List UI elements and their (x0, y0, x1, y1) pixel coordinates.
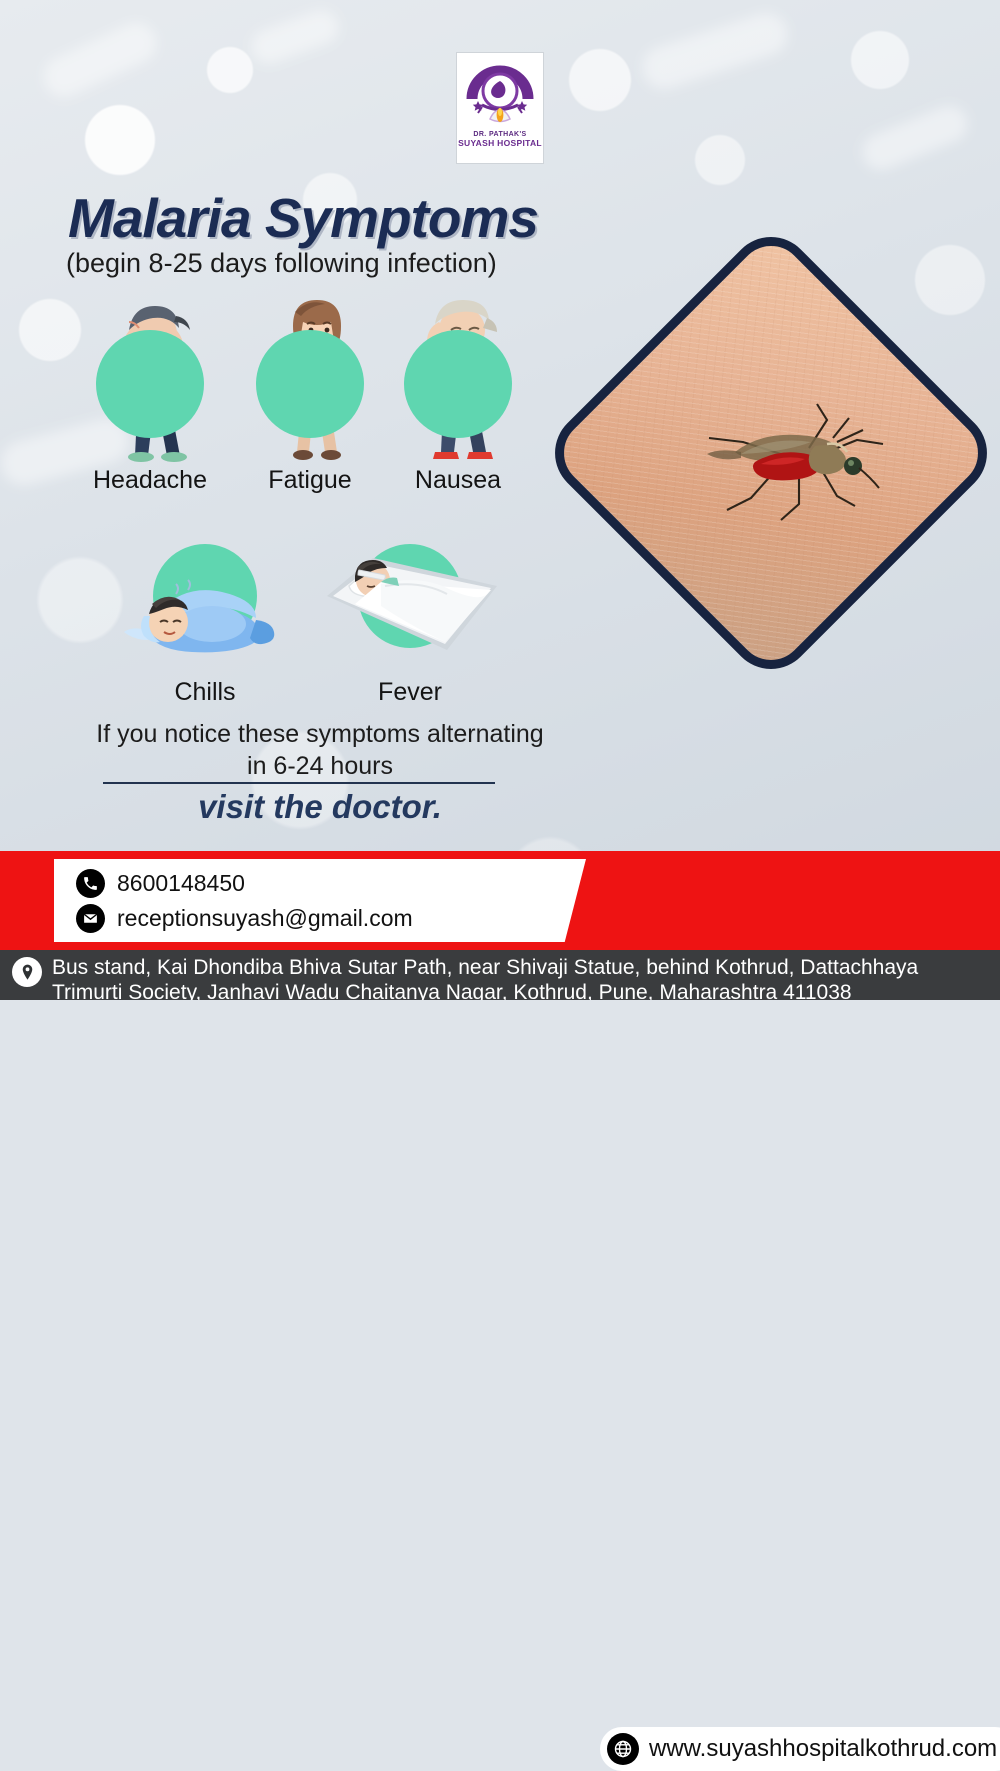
address-bar: Bus stand, Kai Dhondiba Bhiva Sutar Path… (0, 950, 1000, 1000)
hospital-emblem-icon (460, 57, 540, 133)
cta-line1: If you notice these symptoms alternating (96, 720, 543, 748)
symptom-label: Nausea (383, 466, 533, 495)
symptom-nausea: Nausea (383, 282, 533, 495)
cta-text: If you notice these symptoms alternating… (40, 718, 600, 782)
address-line1: Bus stand, Kai Dhondiba Bhiva Sutar Path… (52, 956, 918, 979)
bokeh-streak (247, 6, 343, 69)
bokeh-streak (637, 8, 793, 94)
poster-canvas: DR. PATHAK'S SUYASH HOSPITAL Malaria Sym… (0, 0, 1000, 1000)
logo-top-text: DR. PATHAK'S (463, 131, 537, 138)
person-in-bed-icon (315, 538, 505, 674)
symptom-fatigue: Fatigue (235, 282, 385, 495)
symptom-label: Fever (335, 678, 485, 707)
symptom-label: Chills (130, 678, 280, 707)
email-row[interactable]: receptionsuyash@gmail.com (76, 904, 586, 933)
envelope-icon (76, 904, 105, 933)
bokeh-streak (857, 101, 972, 176)
phone-icon (76, 869, 105, 898)
symptom-headache: Headache (75, 282, 225, 495)
phone-number: 8600148450 (117, 870, 245, 897)
page-title: Malaria Symptoms (68, 186, 538, 250)
website-pill[interactable]: www.suyashhospitalkothrud.com (600, 1727, 1000, 1771)
bokeh-streak (37, 17, 163, 104)
hospital-logo: DR. PATHAK'S SUYASH HOSPITAL (456, 52, 544, 164)
globe-icon (607, 1733, 639, 1765)
person-wrapped-in-blanket-icon (116, 538, 296, 674)
symptom-label: Headache (75, 466, 225, 495)
logo-name: SUYASH HOSPITAL (458, 138, 542, 148)
mosquito-icon (631, 368, 911, 538)
symptom-chills: Chills (130, 538, 280, 707)
location-pin-icon (12, 957, 42, 987)
phone-row[interactable]: 8600148450 (76, 869, 586, 898)
hero-image-frame (540, 222, 1000, 684)
email-address: receptionsuyash@gmail.com (117, 905, 413, 932)
contact-band: 8600148450 receptionsuyash@gmail.com www… (0, 851, 1000, 950)
symptom-fever: Fever (335, 538, 485, 707)
cta-divider (103, 782, 495, 784)
page-subtitle: (begin 8-25 days following infection) (66, 248, 497, 279)
cta-emphasis: visit the doctor. (40, 788, 600, 826)
address-text: Bus stand, Kai Dhondiba Bhiva Sutar Path… (52, 956, 918, 1000)
contact-panel: 8600148450 receptionsuyash@gmail.com (54, 859, 586, 942)
address-line2: Trimurti Society, Janhavi Wadu Chaitanya… (52, 981, 852, 1000)
symptom-label: Fatigue (235, 466, 385, 495)
cta-line2: in 6-24 hours (247, 752, 393, 780)
website-url: www.suyashhospitalkothrud.com (649, 1735, 997, 1763)
mosquito-photo (538, 220, 1000, 687)
